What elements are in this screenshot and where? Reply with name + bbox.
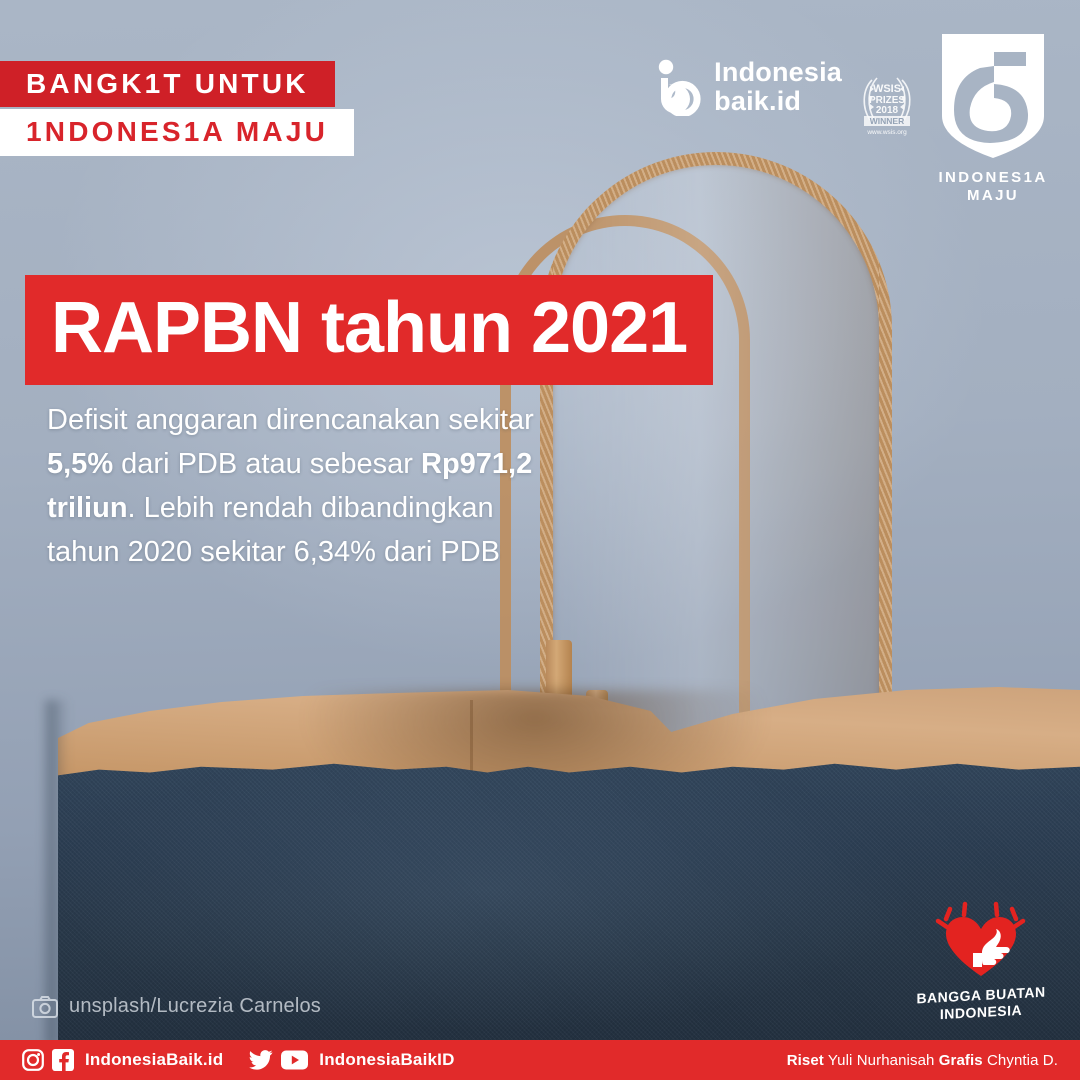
svg-text:2018: 2018 [876, 105, 899, 116]
indonesia-maju-75-emblem: INDONES1A MAJU [932, 30, 1054, 206]
facebook-icon[interactable] [52, 1049, 74, 1071]
credit-label-0: Riset [787, 1052, 824, 1069]
bbi-caption: BANGGA BUATAN INDONESIA [910, 983, 1052, 1023]
svg-text:WINNER: WINNER [870, 116, 904, 126]
body-segment-0: Defisit anggaran direncanakan sekitar [47, 404, 534, 436]
infographic-poster: BANGK1T UNTUK 1NDONES1A MAJU Indonesia b… [0, 0, 1080, 1080]
social-links: IndonesiaBaik.id IndonesiaBaikID [22, 1049, 455, 1071]
youtube-icon[interactable] [281, 1050, 308, 1070]
logo-group: Indonesia baik.id WSIS PRIZES 2018 [657, 30, 1054, 206]
credit-label-1: Grafis [939, 1052, 983, 1069]
emblem-75-caption: INDONES1A MAJU [932, 169, 1054, 206]
twitter-icon[interactable] [249, 1050, 273, 1070]
campaign-tagline: BANGK1T UNTUK 1NDONES1A MAJU [0, 61, 354, 156]
credit-name-1: Chyntia D. [983, 1052, 1058, 1069]
social-set-twitter-youtube[interactable]: IndonesiaBaikID [249, 1050, 454, 1070]
social-set-instagram-facebook[interactable]: IndonesiaBaik.id [22, 1049, 223, 1071]
social-handle-twitter-youtube: IndonesiaBaikID [319, 1050, 454, 1070]
photo-credit: unsplash/Lucrezia Carnelos [32, 995, 321, 1018]
indonesia-baik-logo[interactable]: Indonesia baik.id [657, 58, 842, 116]
svg-text:www.wsis.org: www.wsis.org [866, 129, 907, 136]
ib-line-2: baik.id [714, 86, 801, 116]
credit-name-0: Yuli Nurhanisah [824, 1052, 939, 1069]
page-title: RAPBN tahun 2021 [25, 275, 713, 385]
tagline-line-2: 1NDONES1A MAJU [0, 109, 354, 156]
body-segment-1: 5,5% [47, 448, 113, 480]
indonesia-baik-wordmark: Indonesia baik.id [714, 58, 842, 115]
body-paragraph: Defisit anggaran direncanakan sekitar 5,… [47, 398, 547, 574]
footer-bar: IndonesiaBaik.id IndonesiaBaikID Riset Y… [0, 1040, 1080, 1080]
wsis-prizes-2018-winner-icon: WSIS PRIZES 2018 WINNER www.wsis.org [856, 66, 918, 136]
ib-monogram-icon [657, 58, 703, 116]
photo-credit-text: unsplash/Lucrezia Carnelos [69, 995, 321, 1018]
svg-text:WSIS: WSIS [873, 83, 901, 95]
tagline-line-1: BANGK1T UNTUK [0, 61, 335, 107]
emblem-75-line-1: INDONES1A [938, 169, 1047, 186]
bangga-buatan-indonesia-logo: BANGGA BUATAN INDONESIA [910, 901, 1052, 1020]
body-segment-2: dari PDB atau sebesar [113, 448, 421, 480]
bbi-line-2: INDONESIA [940, 1001, 1022, 1021]
emblem-75-line-2: MAJU [967, 187, 1019, 204]
production-credits: Riset Yuli Nurhanisah Grafis Chyntia D. [787, 1052, 1058, 1069]
instagram-icon[interactable] [22, 1049, 44, 1071]
ib-line-1: Indonesia [714, 57, 842, 87]
camera-icon [32, 996, 58, 1018]
social-handle-instagram-facebook: IndonesiaBaik.id [85, 1050, 223, 1070]
heart-thumbs-up-icon [910, 901, 1052, 985]
